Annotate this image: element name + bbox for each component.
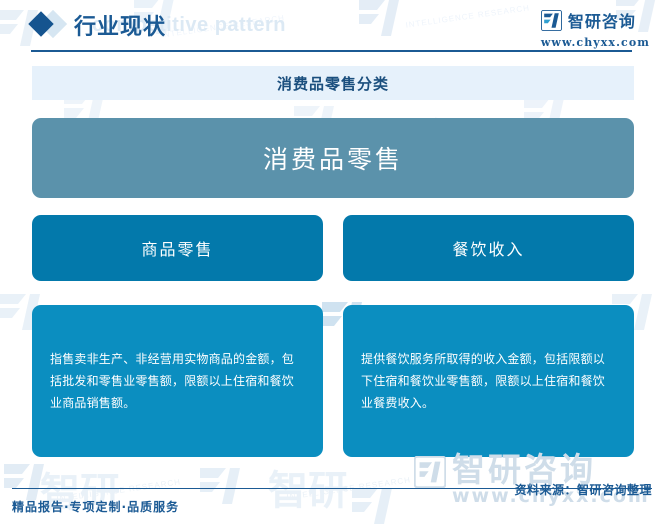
diagram-node-branch-2-label: 餐饮收入 (452, 236, 524, 260)
diagram-desc-branch-2[interactable]: 提供餐饮服务所取得的收入金额，包括限额以下住宿和餐饮业零售额，限额以上住宿和餐饮… (343, 305, 634, 457)
page-title-group: 行业现状 (30, 9, 166, 41)
page-title: 行业现状 (74, 9, 166, 41)
chyxx-logo-icon (541, 10, 562, 31)
diagram-node-branch-2[interactable]: 餐饮收入 (343, 215, 634, 281)
brand-name: 智研咨询 (568, 8, 636, 32)
diagram-node-root[interactable]: 消费品零售 (32, 118, 634, 198)
page-header: competitive pattern 行业现状 智研咨询 www.chyxx.… (0, 0, 666, 58)
diagram-desc-branch-1-text: 指售卖非生产、非经营用实物商品的金额，包括批发和零售业零售额，限额以上住宿和餐饮… (50, 348, 305, 414)
diagram-node-branch-1-label: 商品零售 (141, 236, 213, 260)
diagram-node-branch-1[interactable]: 商品零售 (32, 215, 323, 281)
diamond-icon (30, 11, 64, 39)
diagram-node-root-label: 消费品零售 (263, 140, 403, 176)
classification-diagram: 消费品零售 商品零售 餐饮收入 指售卖非生产、非经营用实物商品的金额，包括批发和… (0, 0, 666, 524)
header-divider (31, 50, 632, 52)
source-note: 资料来源：智研咨询整理 (514, 481, 652, 498)
diagram-desc-branch-2-text: 提供餐饮服务所取得的收入金额，包括限额以下住宿和餐饮业零售额，限额以上住宿和餐饮… (361, 348, 616, 414)
brand-logo[interactable]: 智研咨询 www.chyxx.com (541, 8, 650, 49)
brand-url[interactable]: www.chyxx.com (541, 36, 650, 49)
diagram-desc-branch-1[interactable]: 指售卖非生产、非经营用实物商品的金额，包括批发和零售业零售额，限额以上住宿和餐饮… (32, 305, 323, 457)
footer-slogan: 精品报告·专项定制·品质服务 (12, 498, 179, 515)
